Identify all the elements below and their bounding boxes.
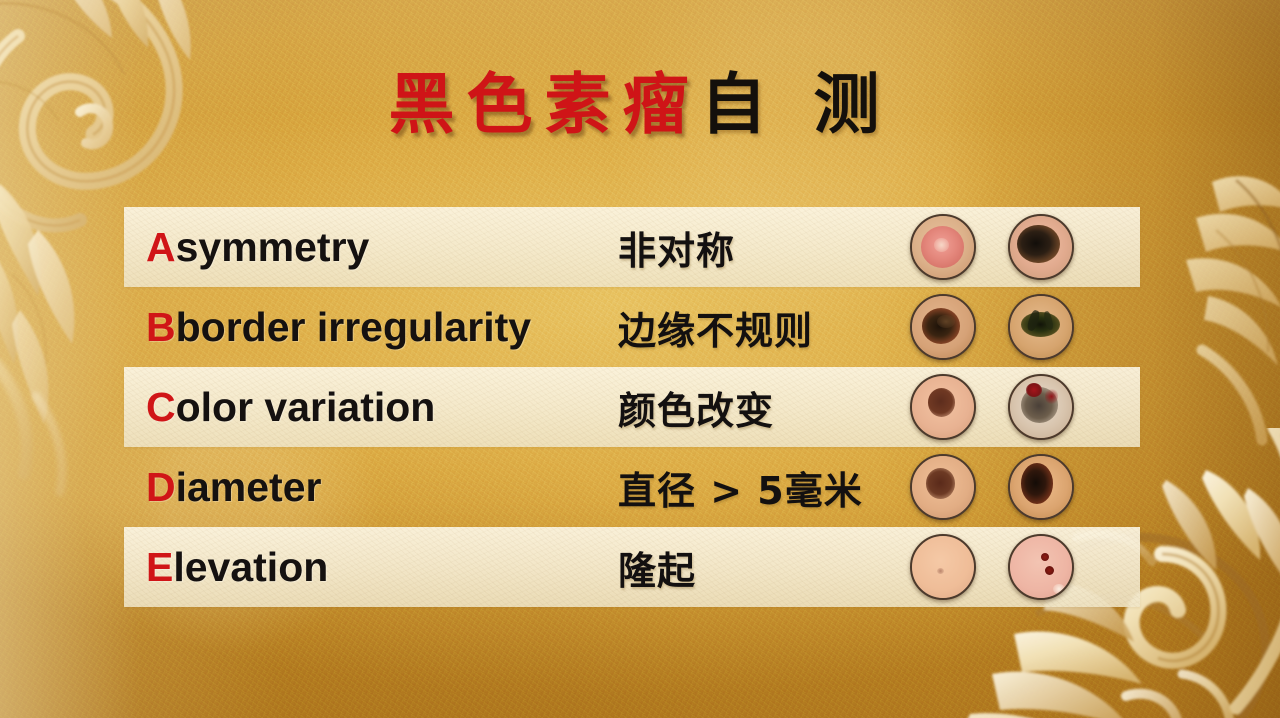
- criterion-english-e: Elevation: [124, 544, 618, 591]
- criterion-english-a: Asymmetry: [124, 224, 618, 271]
- criterion-chinese-c: 颜色改变: [618, 380, 908, 435]
- criterion-letter-b: B: [146, 304, 176, 350]
- lesion-photo-pair-a: [908, 214, 1074, 280]
- criterion-chinese-a: 非对称: [618, 220, 908, 275]
- page-title: 黑色素瘤自 测: [0, 72, 1280, 138]
- lesion-d-right: [1008, 454, 1074, 520]
- criterion-english-c: Color variation: [124, 384, 618, 431]
- table-row[interactable]: Asymmetry 非对称: [124, 207, 1140, 287]
- criterion-rest-c: olor variation: [176, 384, 436, 430]
- lesion-b-right: [1008, 294, 1074, 360]
- lesion-a-left: [910, 214, 976, 280]
- criterion-letter-d: D: [146, 464, 176, 510]
- lesion-c-left: [910, 374, 976, 440]
- lesion-d-left: [910, 454, 976, 520]
- lesion-b-left: [910, 294, 976, 360]
- table-row[interactable]: Elevation 隆起: [124, 527, 1140, 607]
- table-row[interactable]: Diameter 直径 > 5毫米: [124, 447, 1140, 527]
- lesion-e-left: [910, 534, 976, 600]
- criterion-letter-c: C: [146, 384, 176, 430]
- criterion-rest-a: symmetry: [176, 224, 370, 270]
- lesion-a-right: [1008, 214, 1074, 280]
- criterion-chinese-e: 隆起: [618, 540, 908, 595]
- criterion-rest-e: levation: [173, 544, 328, 590]
- criterion-english-b: Bborder irregularity: [124, 304, 618, 351]
- criterion-chinese-b: 边缘不规则: [618, 300, 908, 355]
- abcde-criteria-table: Asymmetry 非对称 Bborder irregularity 边缘不规则: [124, 207, 1140, 607]
- lesion-c-right: [1008, 374, 1074, 440]
- table-row[interactable]: Color variation 颜色改变: [124, 367, 1140, 447]
- criterion-letter-e: E: [146, 544, 173, 590]
- criterion-chinese-d: 直径 > 5毫米: [618, 460, 908, 515]
- criterion-letter-a: A: [146, 224, 176, 270]
- table-row[interactable]: Bborder irregularity 边缘不规则: [124, 287, 1140, 367]
- lesion-photo-pair-d: [908, 454, 1074, 520]
- melanoma-self-check-slide: 黑色素瘤自 测 Asymmetry 非对称 Bborder irregulari: [0, 0, 1280, 718]
- page-title-black: 自 测: [701, 66, 892, 143]
- lesion-e-right: [1008, 534, 1074, 600]
- lesion-photo-pair-e: [908, 534, 1074, 600]
- lesion-photo-pair-c: [908, 374, 1074, 440]
- lesion-photo-pair-b: [908, 294, 1074, 360]
- page-title-red: 黑色素瘤: [389, 66, 701, 143]
- criterion-rest-d: iameter: [176, 464, 322, 510]
- criterion-english-d: Diameter: [124, 464, 618, 511]
- criterion-rest-b: border irregularity: [176, 304, 531, 350]
